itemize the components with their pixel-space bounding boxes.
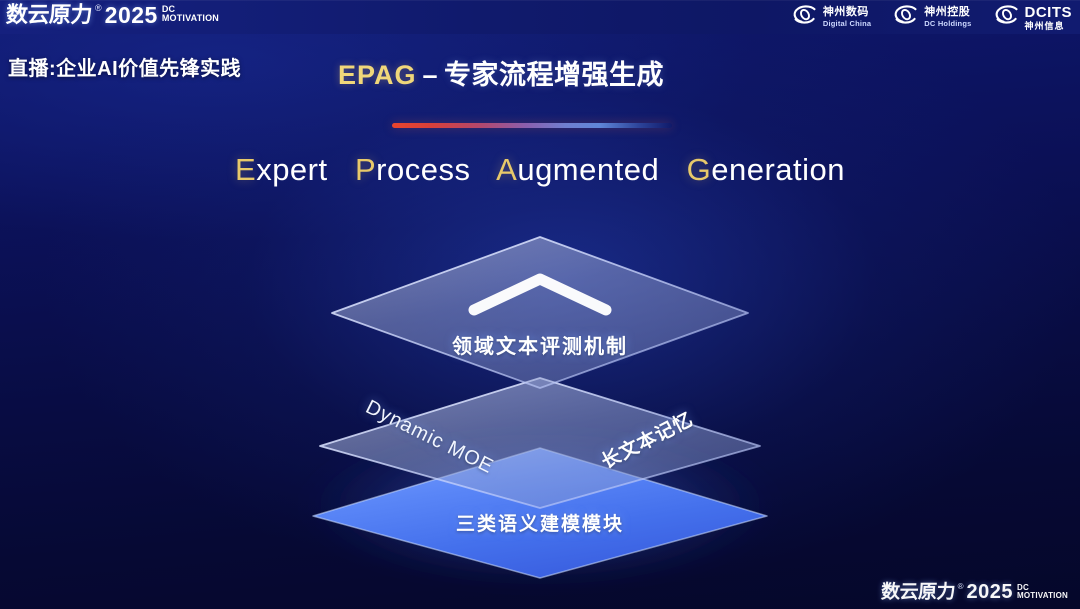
footer-brand-tagline-line2: MOTIVATION bbox=[1017, 592, 1068, 600]
layer-middle-plate bbox=[320, 378, 760, 508]
subtitle-initial: A bbox=[496, 152, 517, 187]
chevron-up-icon bbox=[474, 279, 606, 310]
swoosh-icon bbox=[792, 4, 818, 31]
partner-name-en: Digital China bbox=[823, 20, 871, 28]
footer-brand-tagline: DC MOTIVATION bbox=[1017, 584, 1068, 600]
subtitle-initial: G bbox=[687, 152, 712, 187]
swoosh-icon bbox=[994, 4, 1020, 31]
partner-label-group: 神州控股 DC Holdings bbox=[924, 7, 971, 28]
subtitle: Expert Process Augmented Generation bbox=[0, 152, 1080, 188]
subtitle-space bbox=[480, 152, 489, 187]
footer-brand-year: 2025 bbox=[966, 582, 1013, 603]
subtitle-word-rest: xpert bbox=[256, 152, 327, 187]
subtitle-initial: P bbox=[355, 152, 376, 187]
partner-name-cn: 神州控股 bbox=[924, 7, 971, 18]
diagram-layer-middle bbox=[320, 378, 760, 508]
subtitle-space bbox=[337, 152, 346, 187]
footer-brand-registered-mark: ® bbox=[958, 582, 964, 591]
diagram-layer-top bbox=[332, 237, 748, 388]
subtitle-initial: E bbox=[235, 152, 256, 187]
brand-name-cn: 数云原力 bbox=[5, 3, 92, 27]
layer-top-label: 领域文本评测机制 bbox=[0, 330, 1080, 359]
subtitle-word-rest: ugmented bbox=[517, 152, 659, 187]
title-divider bbox=[392, 123, 672, 128]
brand-year: 2025 bbox=[105, 3, 158, 27]
swoosh-icon bbox=[893, 4, 919, 31]
slide-canvas: 数云原力 ® 2025 DC MOTIVATION 神州数码 Digital C… bbox=[0, 0, 1080, 609]
partner-logo-group: 神州数码 Digital China 神州控股 DC Holdings bbox=[792, 4, 1072, 31]
title-dash: – bbox=[423, 60, 439, 90]
subtitle-word-augmented: Augmented bbox=[496, 152, 659, 187]
brand-registered-mark: ® bbox=[95, 3, 102, 14]
subtitle-space bbox=[668, 152, 677, 187]
subtitle-word-generation: Generation bbox=[687, 152, 845, 187]
layer-middle-label-right: 长文本记忆 bbox=[596, 405, 697, 474]
brand-logo-footer: 数云原力 ® 2025 DC MOTIVATION bbox=[881, 582, 1068, 603]
live-stream-label: 直播:企业AI价值先锋实践 bbox=[8, 52, 241, 81]
partner-logo-digital-china: 神州数码 Digital China bbox=[792, 4, 871, 31]
partner-name-cn: DCITS bbox=[1025, 5, 1073, 20]
subtitle-word-rest: rocess bbox=[376, 152, 470, 187]
partner-logo-dc-holdings: 神州控股 DC Holdings bbox=[893, 4, 971, 31]
footer-brand-name-cn: 数云原力 bbox=[880, 582, 955, 603]
brand-tagline: DC MOTIVATION bbox=[162, 5, 219, 23]
partner-logo-dcits: DCITS 神州信息 bbox=[994, 4, 1073, 31]
brand-tagline-line2: MOTIVATION bbox=[162, 14, 219, 23]
layer-middle-label-left: Dynamic MOE bbox=[362, 396, 497, 479]
title-chinese: 专家流程增强生成 bbox=[444, 60, 664, 90]
partner-name-en: DC Holdings bbox=[924, 20, 971, 28]
layer-bottom-label: 三类语义建模模块 bbox=[0, 509, 1080, 536]
subtitle-word-process: Process bbox=[355, 152, 471, 187]
partner-name-en: 神州信息 bbox=[1025, 22, 1073, 31]
page-title: EPAG–专家流程增强生成 bbox=[338, 53, 664, 92]
subtitle-word-rest: eneration bbox=[711, 152, 845, 187]
partner-name-cn: 神州数码 bbox=[823, 7, 871, 18]
brand-logo-header: 数云原力 ® 2025 DC MOTIVATION bbox=[6, 3, 219, 27]
stack-glow bbox=[295, 420, 785, 590]
layer-top-plate bbox=[332, 237, 748, 388]
partner-label-group: 神州数码 Digital China bbox=[823, 7, 871, 28]
title-acronym: EPAG bbox=[338, 60, 417, 90]
partner-label-group: DCITS 神州信息 bbox=[1025, 5, 1073, 31]
subtitle-word-expert: Expert bbox=[235, 152, 328, 187]
